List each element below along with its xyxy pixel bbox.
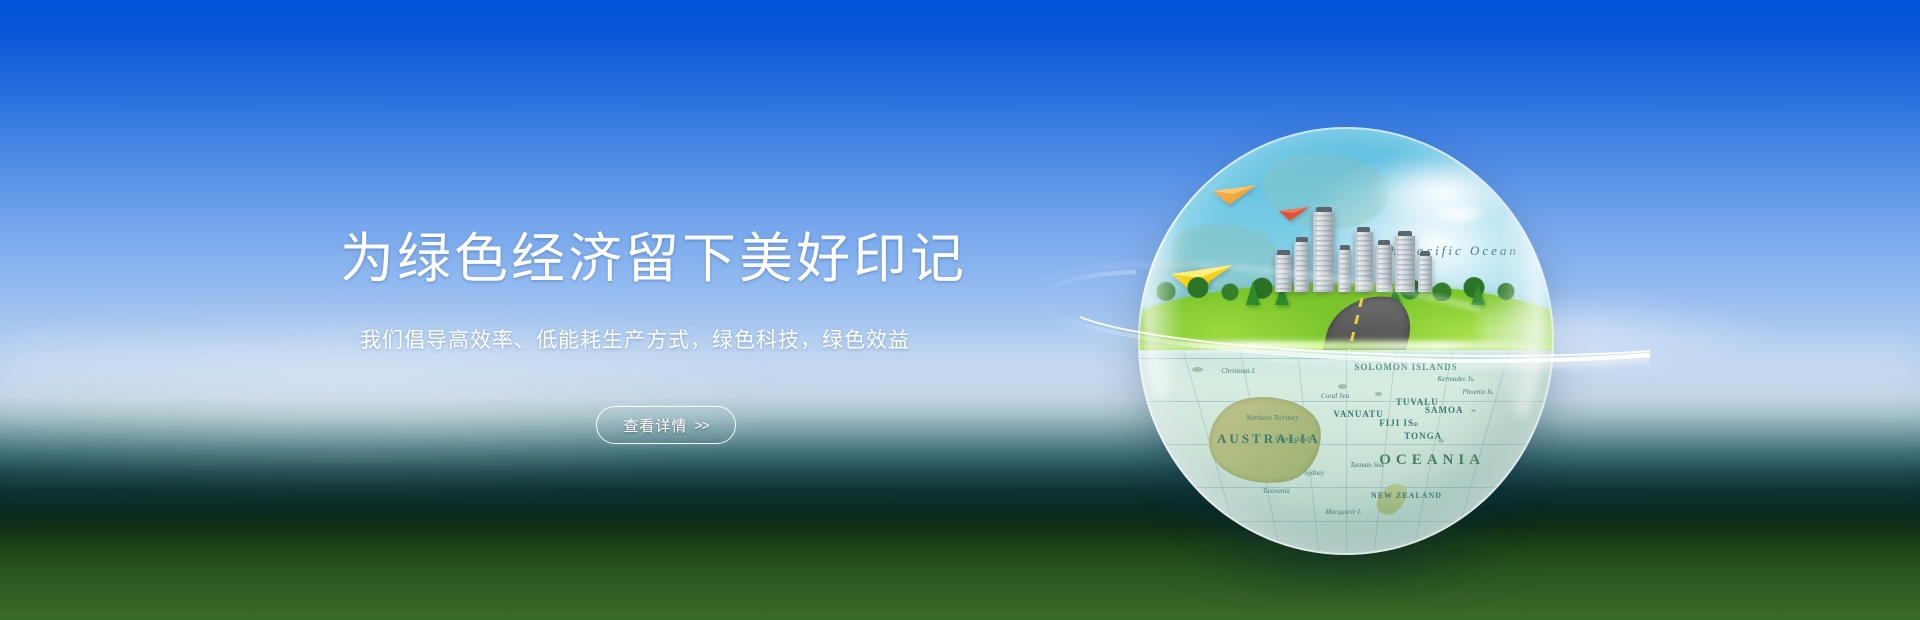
tree-icon	[1246, 281, 1260, 305]
hero-headline: 为绿色经济留下美好印记	[340, 232, 967, 286]
building	[1355, 232, 1372, 291]
hero-copy: 为绿色经济留下美好印记 我们倡导高效率、低能耗生产方式，绿色科技，绿色效益	[0, 0, 1060, 620]
building	[1338, 250, 1351, 292]
view-details-button[interactable]: 查看详情 >>	[596, 406, 736, 444]
building	[1275, 255, 1292, 292]
glass-edge-left	[1142, 161, 1184, 401]
building	[1376, 245, 1391, 291]
island-shape	[1338, 384, 1347, 389]
hero-banner: OCEANIA AUSTRALIA SOLOMON ISLANDS TUVALU…	[0, 0, 1920, 620]
building	[1395, 236, 1414, 292]
building-tallest	[1313, 212, 1334, 292]
chevron-right-icon: >>	[694, 417, 708, 433]
island-shape	[1413, 422, 1418, 426]
view-details-label: 查看详情	[623, 415, 687, 436]
hero-subheadline: 我们倡导高效率、低能耗生产方式，绿色科技，绿色效益	[360, 330, 910, 351]
glass-highlight-small	[1429, 203, 1487, 225]
globe-illustration: OCEANIA AUSTRALIA SOLOMON ISLANDS TUVALU…	[1138, 127, 1554, 555]
paper-plane-icon	[1213, 185, 1257, 210]
building	[1418, 256, 1431, 291]
glass-edge-right	[1496, 153, 1546, 418]
island-shape	[1192, 367, 1203, 372]
tree-icon	[1471, 283, 1485, 305]
building	[1294, 242, 1309, 292]
globe-sphere: OCEANIA AUSTRALIA SOLOMON ISLANDS TUVALU…	[1138, 127, 1554, 555]
